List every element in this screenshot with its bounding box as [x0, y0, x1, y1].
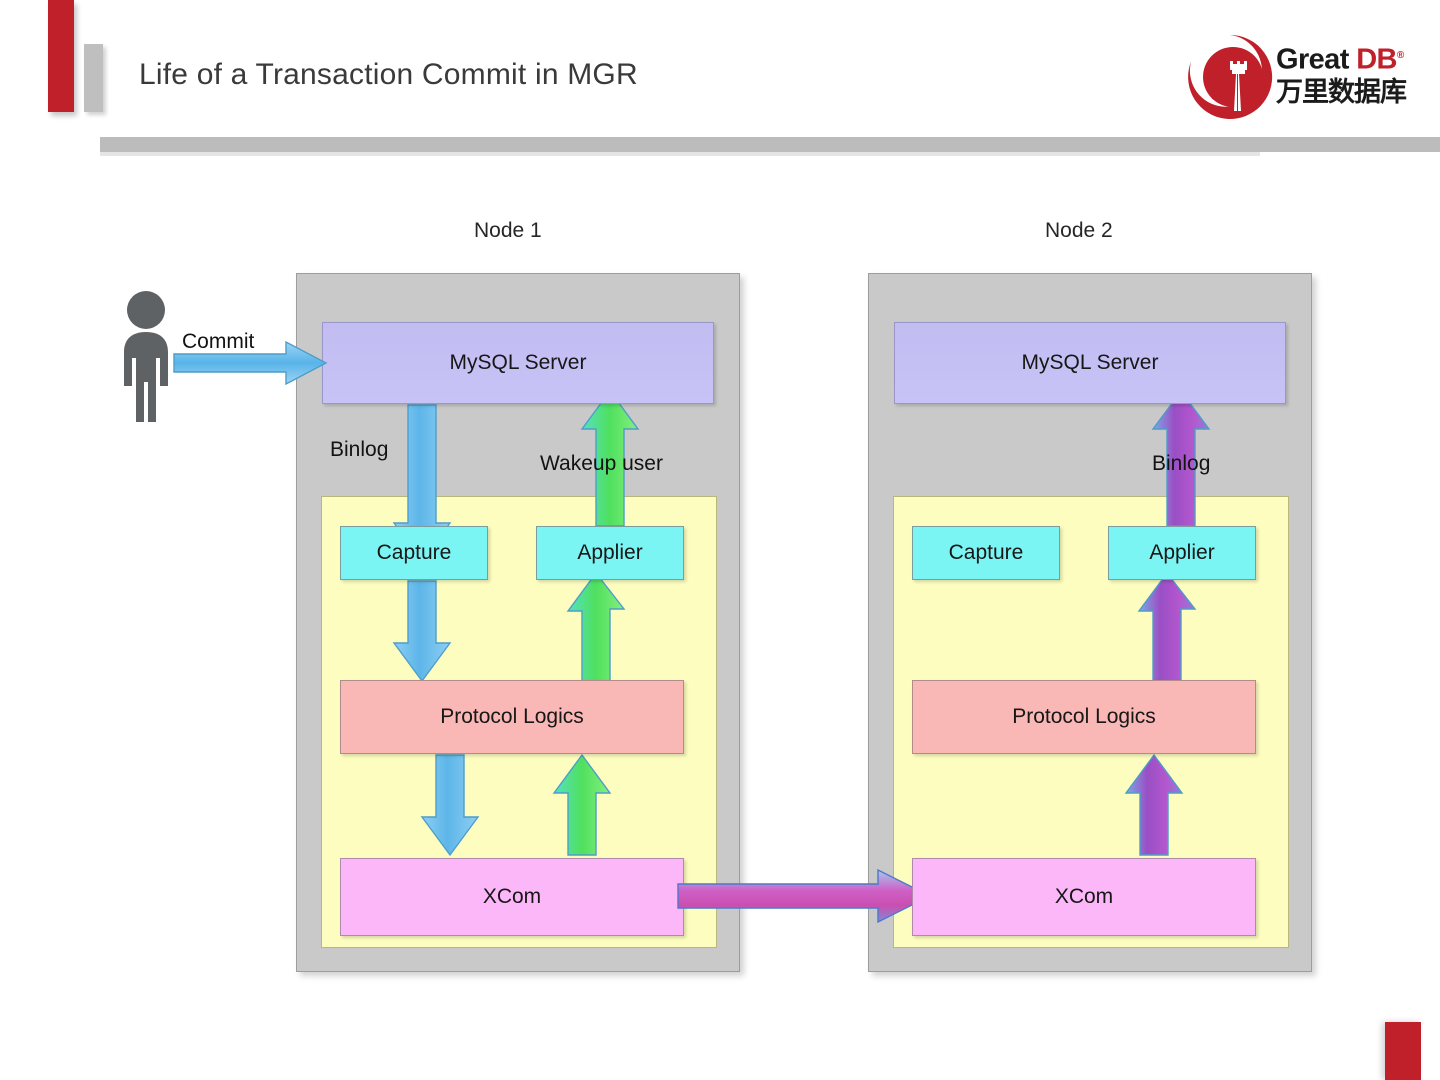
node2-arrow-xcom-to-protocol — [1126, 755, 1182, 855]
header-divider-rule — [100, 137, 1440, 152]
node1-mysql-server-label: MySQL Server — [450, 351, 587, 375]
node2-mysql-server-block[interactable]: MySQL Server — [894, 322, 1286, 404]
node2-xcom-block[interactable]: XCom — [912, 858, 1256, 936]
node1-capture-block[interactable]: Capture — [340, 526, 488, 580]
logo-great-text: Great — [1276, 44, 1356, 76]
node2-capture-label: Capture — [949, 541, 1024, 565]
node1-arrow-xcom-to-protocol — [554, 755, 610, 855]
node2-protocol-logics-block[interactable]: Protocol Logics — [912, 680, 1256, 754]
node2-applier-label: Applier — [1149, 541, 1214, 565]
node2-mysql-server-label: MySQL Server — [1022, 351, 1159, 375]
header-red-accent-bar — [48, 0, 74, 112]
slide-canvas: Life of a Transaction Commit in MGR Grea… — [0, 0, 1440, 1080]
node1-mysql-server-block[interactable]: MySQL Server — [322, 322, 714, 404]
flow-label-binlog-node2: Binlog — [1152, 452, 1210, 476]
greatdb-logo-text: Great DB® 万里数据库 — [1276, 39, 1412, 117]
node1-arrow-capture-to-protocol — [394, 581, 450, 681]
node1-capture-label: Capture — [377, 541, 452, 565]
node2-arrow-protocol-to-applier — [1139, 573, 1195, 685]
node2-applier-block[interactable]: Applier — [1108, 526, 1256, 580]
node-label-node1: Node 1 — [474, 219, 542, 243]
logo-registered-mark: ® — [1397, 50, 1404, 61]
node1-arrow-protocol-to-applier — [568, 573, 624, 685]
flow-label-binlog-node1: Binlog — [330, 438, 388, 462]
node1-protocol-logics-block[interactable]: Protocol Logics — [340, 680, 684, 754]
node2-protocol-logics-label: Protocol Logics — [1012, 705, 1156, 729]
user-actor-icon — [112, 290, 180, 422]
commit-arrow — [174, 340, 330, 388]
logo-wordmark-en: Great DB® — [1276, 39, 1412, 77]
node2-capture-block[interactable]: Capture — [912, 526, 1060, 580]
greatdb-logo: Great DB® 万里数据库 — [1186, 33, 1412, 121]
node1-xcom-block[interactable]: XCom — [340, 858, 684, 936]
flow-label-wakeup-user: Wakeup user — [540, 452, 663, 476]
node1-xcom-label: XCom — [483, 885, 541, 909]
node2-xcom-label: XCom — [1055, 885, 1113, 909]
logo-wordmark-cn: 万里数据库 — [1276, 77, 1412, 109]
header-gray-accent-bar — [84, 44, 103, 112]
node1-arrow-protocol-to-xcom — [422, 755, 478, 855]
node1-applier-block[interactable]: Applier — [536, 526, 684, 580]
node1-protocol-logics-label: Protocol Logics — [440, 705, 584, 729]
node1-applier-label: Applier — [577, 541, 642, 565]
page-title: Life of a Transaction Commit in MGR — [139, 58, 638, 92]
greatdb-logo-mark-icon — [1186, 33, 1274, 121]
footer-red-accent-bar — [1385, 1022, 1421, 1080]
node-label-node2: Node 2 — [1045, 219, 1113, 243]
logo-db-text: DB — [1356, 44, 1397, 76]
xcom-replication-arrow — [678, 868, 936, 926]
